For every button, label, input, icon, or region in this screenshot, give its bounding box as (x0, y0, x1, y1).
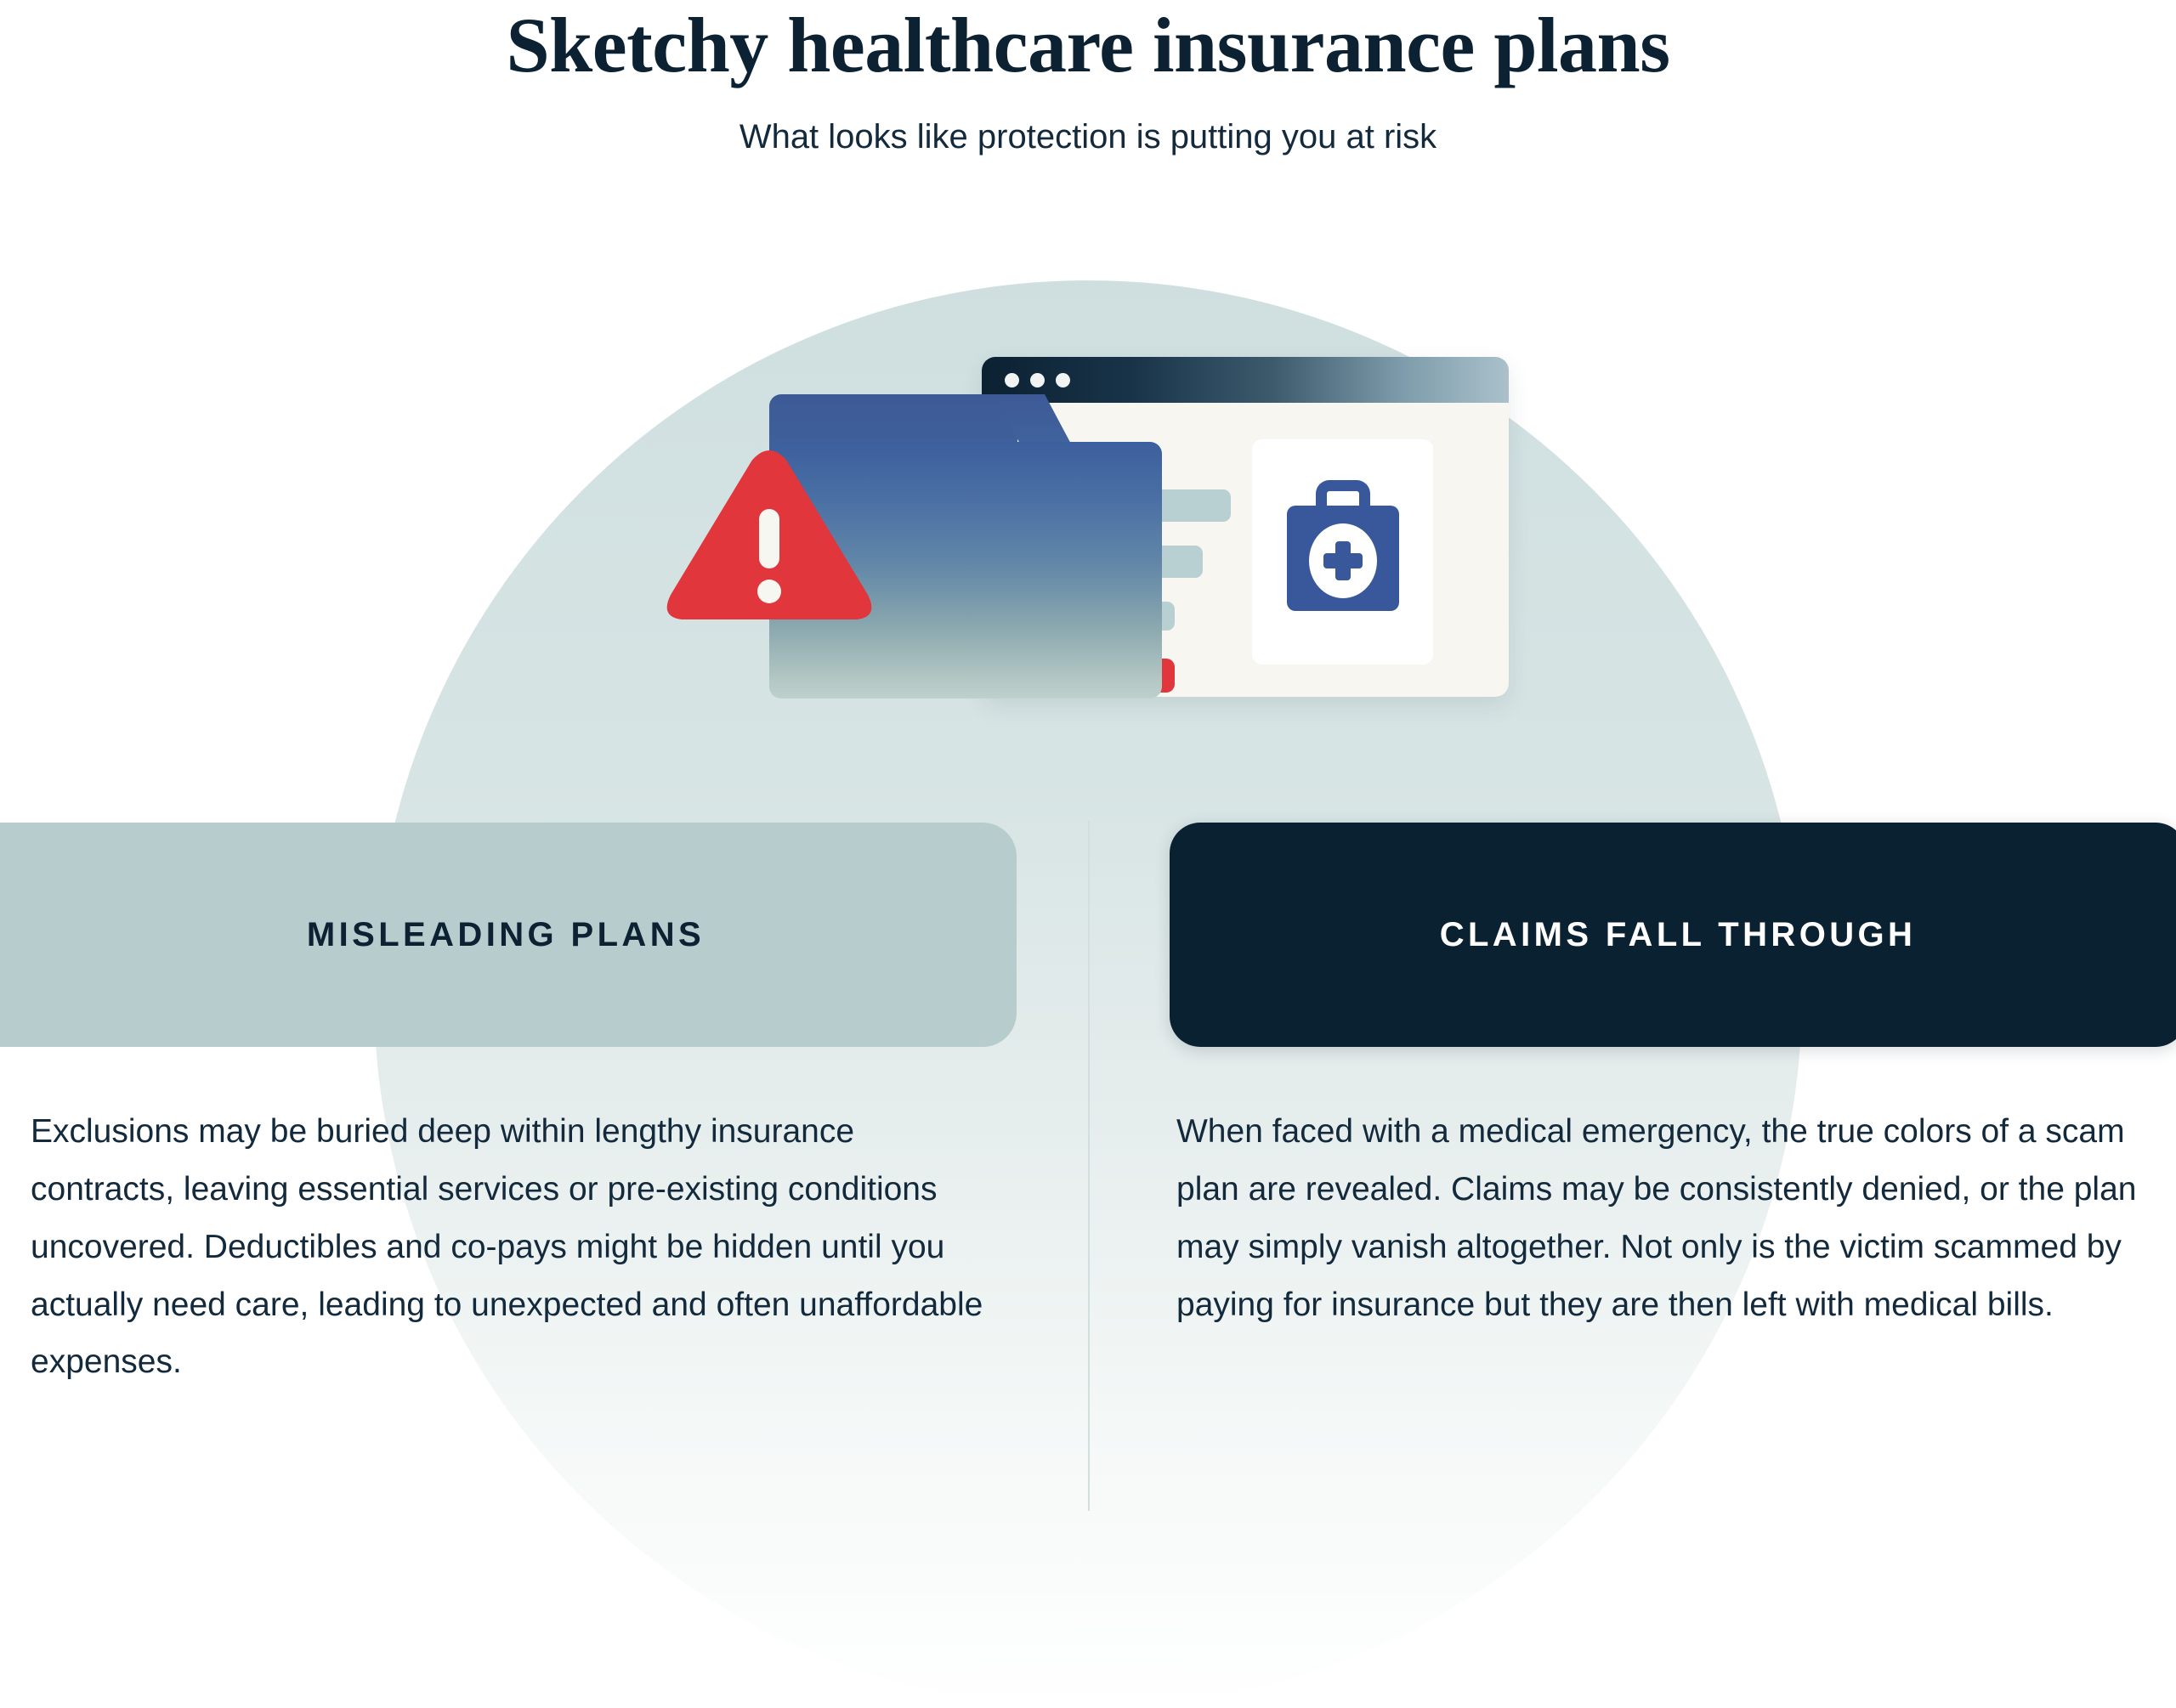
column-misleading-plans: MISLEADING PLANS Exclusions may be burie… (0, 823, 1017, 1391)
column-claims-fall-through: CLAIMS FALL THROUGH When faced with a me… (1170, 823, 2176, 1333)
column-divider (1088, 821, 1090, 1511)
card-header-misleading-plans: MISLEADING PLANS (0, 823, 1017, 1047)
body-text-claims-fall-through: When faced with a medical emergency, the… (1170, 1047, 2176, 1333)
columns-section: MISLEADING PLANS Exclusions may be burie… (0, 0, 2176, 1581)
body-text-misleading-plans: Exclusions may be buried deep within len… (0, 1047, 1017, 1391)
card-header-claims-fall-through: CLAIMS FALL THROUGH (1170, 823, 2176, 1047)
